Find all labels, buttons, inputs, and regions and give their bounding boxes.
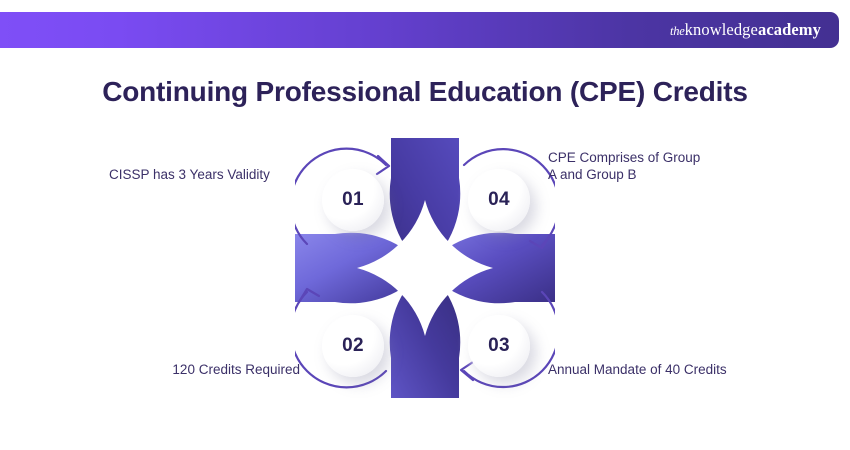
step-circle-01[interactable]: 01 (322, 169, 384, 231)
step-circle-03[interactable]: 03 (468, 315, 530, 377)
step-number-02: 02 (342, 335, 364, 357)
step-number-01: 01 (342, 189, 364, 211)
step-label-04: CPE Comprises of Group A and Group B (548, 149, 748, 183)
step-label-02: 120 Credits Required (100, 361, 300, 378)
step-label-04-line1: CPE Comprises of Group (548, 149, 748, 166)
brand-logo: theknowledgeacademy (670, 22, 821, 39)
brand-logo-word-knowledge: knowledge (685, 20, 758, 39)
step-circle-02[interactable]: 02 (322, 315, 384, 377)
brand-logo-word-academy: academy (758, 20, 821, 39)
center-white-star (357, 200, 493, 336)
header-bar: theknowledgeacademy (0, 12, 839, 48)
page-title: Continuing Professional Education (CPE) … (0, 76, 850, 108)
step-circle-04[interactable]: 04 (468, 169, 530, 231)
infographic-diagram: 01 04 02 03 CISSP has 3 Years Validity C… (0, 128, 850, 413)
step-number-03: 03 (488, 335, 510, 357)
step-label-03: Annual Mandate of 40 Credits (548, 361, 778, 378)
step-label-04-line2: A and Group B (548, 166, 748, 183)
step-label-01: CISSP has 3 Years Validity (109, 166, 309, 183)
brand-logo-prefix: the (670, 24, 685, 38)
step-number-04: 04 (488, 189, 510, 211)
